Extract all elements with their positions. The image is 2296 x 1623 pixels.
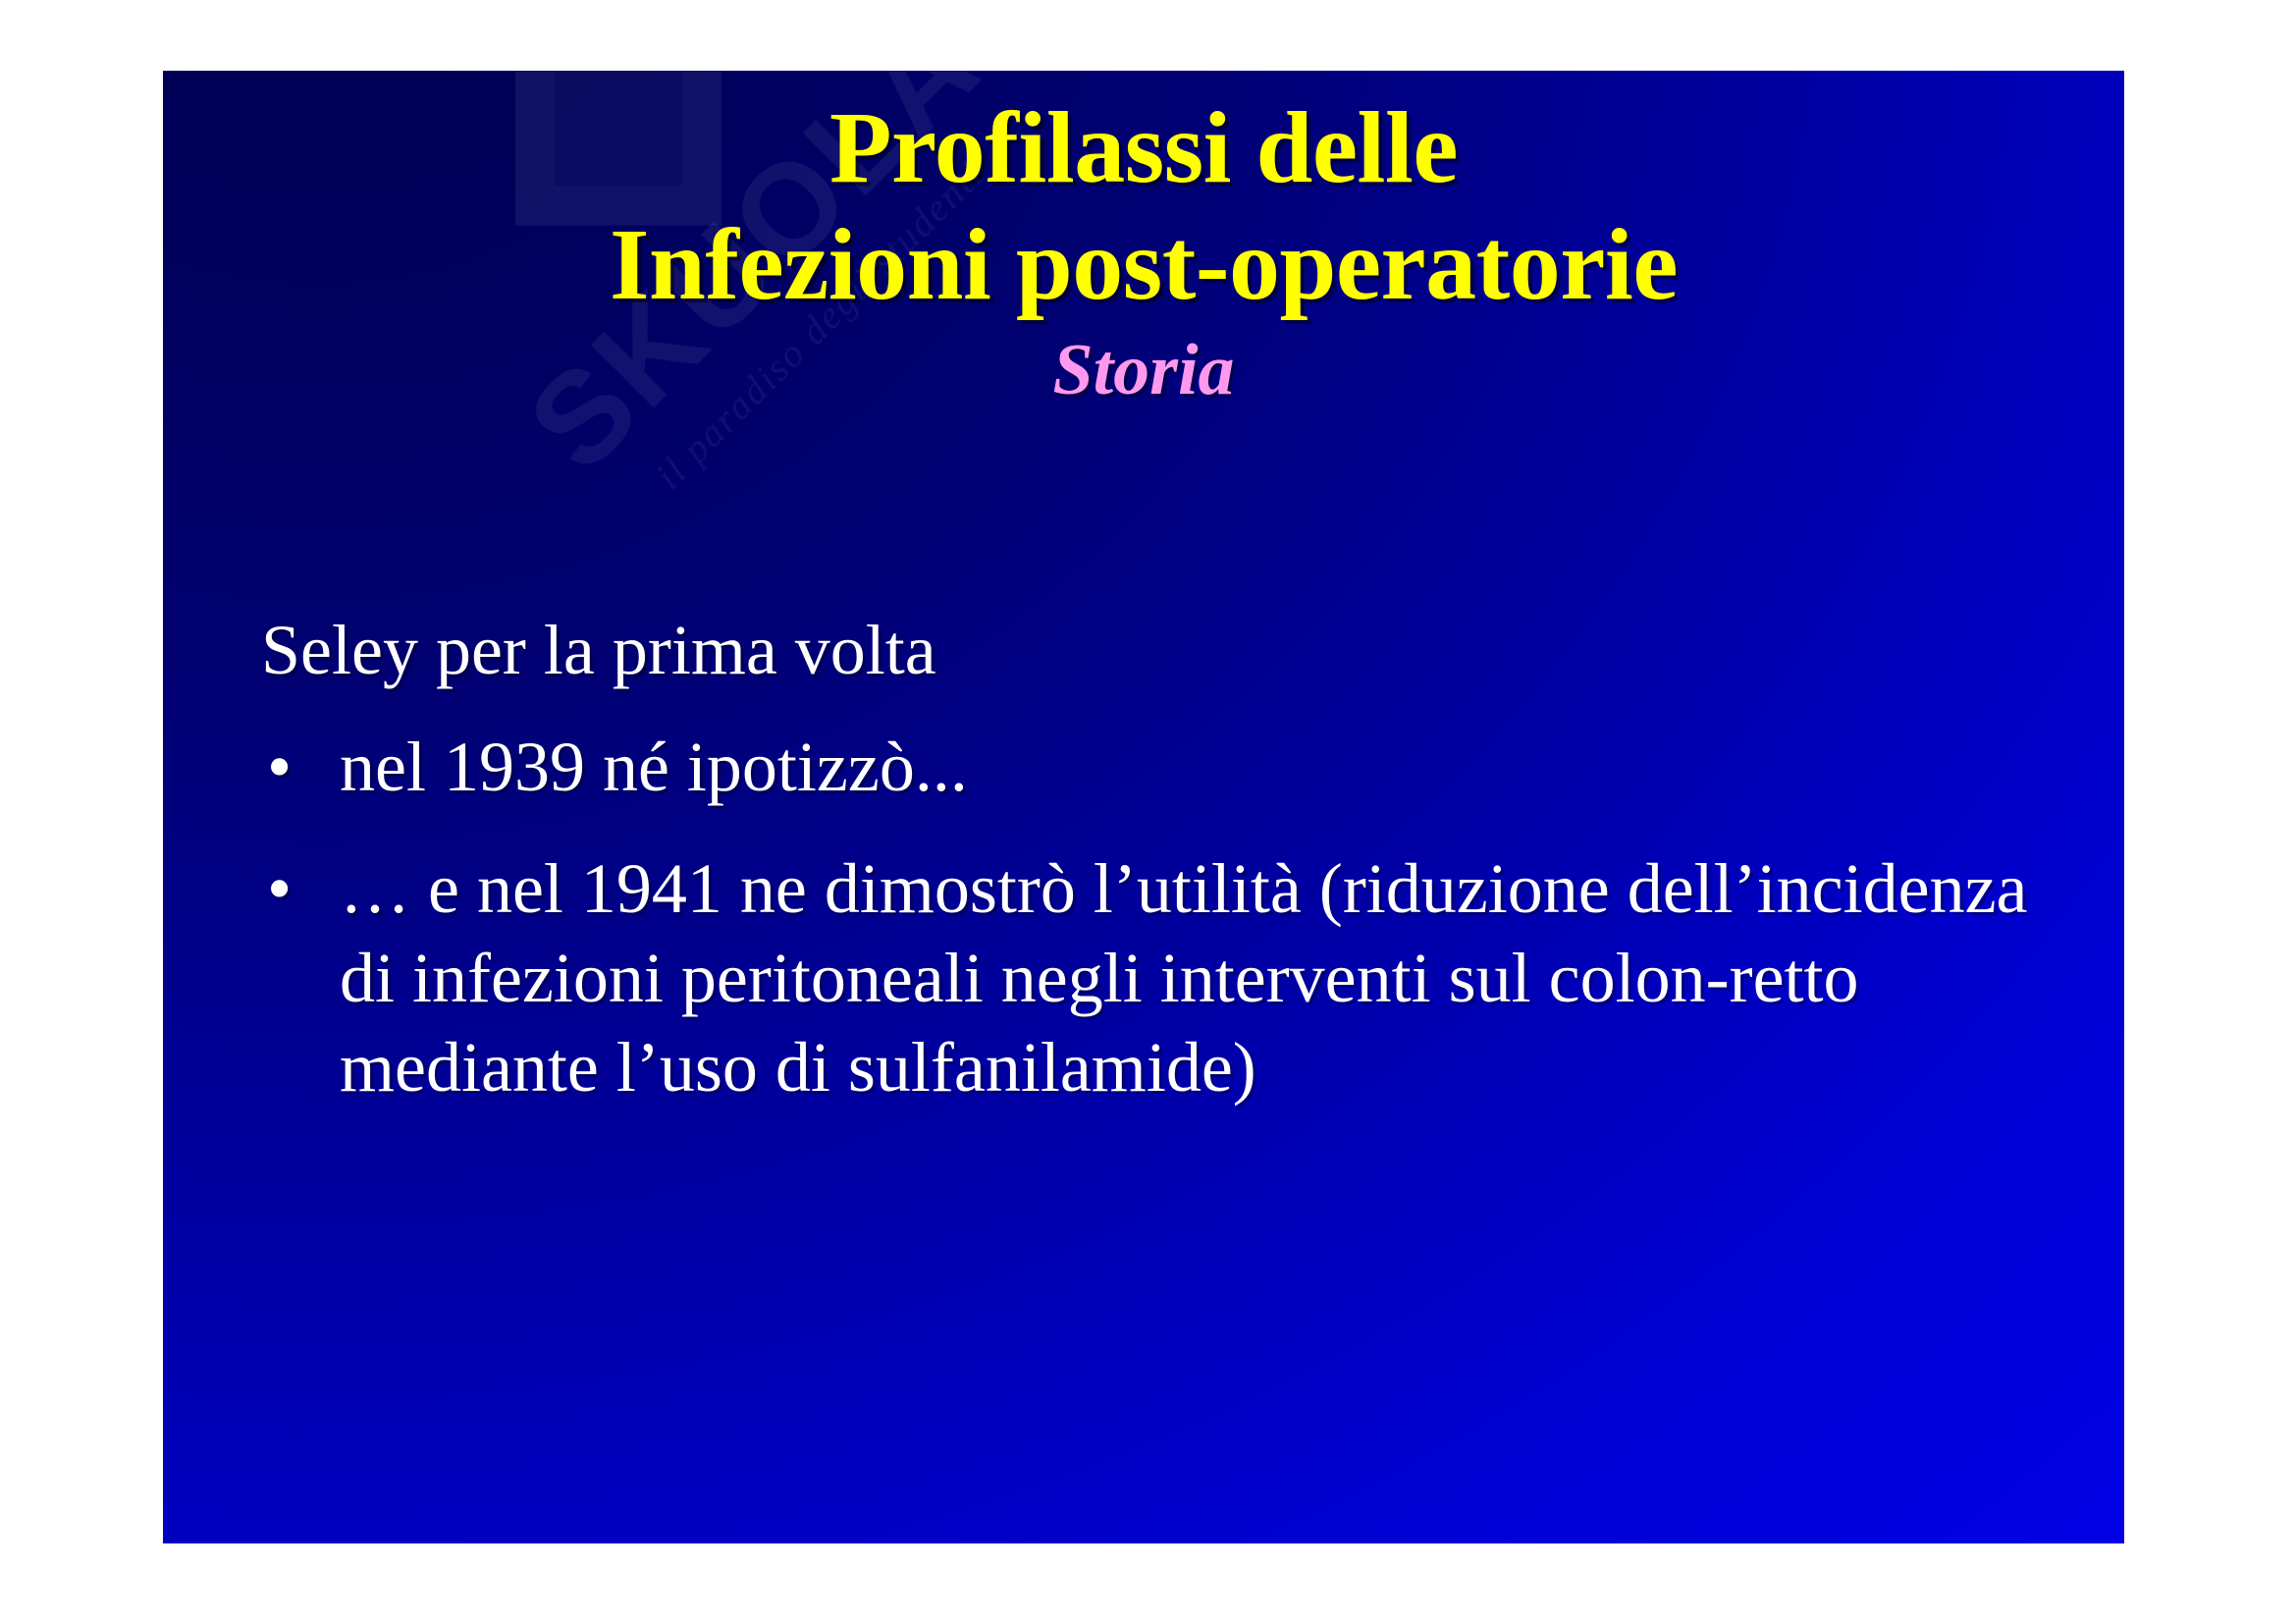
body-lead-text: Seley per la prima volta [253,606,2059,695]
slide-canvas: SKUOLA il paradiso degli studenti Profil… [163,71,2124,1543]
bullet-marker-icon: • [267,723,292,812]
presentation-page: SKUOLA il paradiso degli studenti Profil… [0,0,2296,1623]
bullet-text: nel 1939 né ipotizzò... [340,723,2059,812]
bullet-text: … e nel 1941 ne dimostrò l’utilità (ridu… [340,844,2059,1111]
list-item: • nel 1939 né ipotizzò... [253,723,2059,812]
bullet-marker-icon: • [267,844,292,934]
bullet-list: • nel 1939 né ipotizzò... • … e nel 1941… [253,723,2059,1112]
slide-title-block: Profilassi delle Infezioni post-operator… [163,90,2124,410]
slide-title-line-1: Profilassi delle [163,90,2124,207]
slide-title-line-2: Infezioni post-operatorie [163,207,2124,324]
slide-body: Seley per la prima volta • nel 1939 né i… [253,606,2059,1112]
list-item: • … e nel 1941 ne dimostrò l’utilità (ri… [253,844,2059,1111]
slide-subtitle: Storia [163,331,2124,410]
